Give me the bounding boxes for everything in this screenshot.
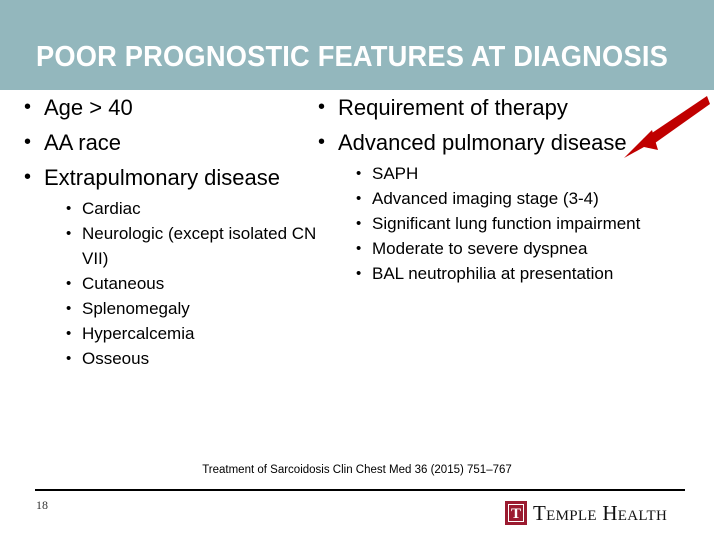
- bullet-label: Requirement of therapy: [338, 95, 568, 120]
- list-item: Osseous: [62, 346, 322, 371]
- bullet-label: Advanced pulmonary disease: [338, 130, 627, 155]
- list-item: Moderate to severe dyspnea: [352, 236, 706, 261]
- list-item: Advanced pulmonary disease: [316, 125, 706, 160]
- list-item: Age > 40: [22, 90, 322, 125]
- temple-t-icon-letter: T: [507, 506, 525, 522]
- bullet-label: AA race: [44, 130, 121, 155]
- list-item: Splenomegaly: [62, 296, 322, 321]
- left-content-column: Age > 40 AA race Extrapulmonary disease …: [22, 90, 322, 371]
- slide-body: Age > 40 AA race Extrapulmonary disease …: [0, 90, 714, 470]
- slide: POOR PROGNOSTIC FEATURES AT DIAGNOSIS Ag…: [0, 0, 714, 535]
- list-item: Hypercalcemia: [62, 321, 322, 346]
- list-item: Extrapulmonary disease: [22, 160, 322, 195]
- list-item: BAL neutrophilia at presentation: [352, 261, 706, 286]
- list-item: AA race: [22, 125, 322, 160]
- bullet-label: Extrapulmonary disease: [44, 165, 280, 190]
- title-bar: POOR PROGNOSTIC FEATURES AT DIAGNOSIS: [0, 0, 714, 90]
- footer-divider: [35, 489, 685, 491]
- list-item: Significant lung function impairment: [352, 211, 706, 236]
- left-sub-bullet-list: Cardiac Neurologic (except isolated CN V…: [62, 196, 322, 371]
- list-item: Cardiac: [62, 196, 322, 221]
- list-item: Neurologic (except isolated CN VII): [62, 221, 322, 271]
- citation-text: Treatment of Sarcoidosis Clin Chest Med …: [0, 464, 714, 476]
- list-item: SAPH: [352, 161, 706, 186]
- bullet-label: Age > 40: [44, 95, 133, 120]
- page-number: 18: [36, 498, 48, 513]
- page-title: POOR PROGNOSTIC FEATURES AT DIAGNOSIS: [36, 42, 668, 72]
- list-item: Requirement of therapy: [316, 90, 706, 125]
- right-bullet-list: Requirement of therapy Advanced pulmonar…: [316, 90, 706, 160]
- list-item: Advanced imaging stage (3-4): [352, 186, 706, 211]
- left-bullet-list: Age > 40 AA race Extrapulmonary disease: [22, 90, 322, 195]
- list-item: Cutaneous: [62, 271, 322, 296]
- temple-health-logo: T Temple Health: [505, 499, 667, 527]
- temple-t-icon: T: [505, 501, 527, 525]
- right-content-column: Requirement of therapy Advanced pulmonar…: [316, 90, 706, 286]
- logo-text: Temple Health: [533, 501, 667, 526]
- right-sub-bullet-list: SAPH Advanced imaging stage (3-4) Signif…: [352, 161, 706, 286]
